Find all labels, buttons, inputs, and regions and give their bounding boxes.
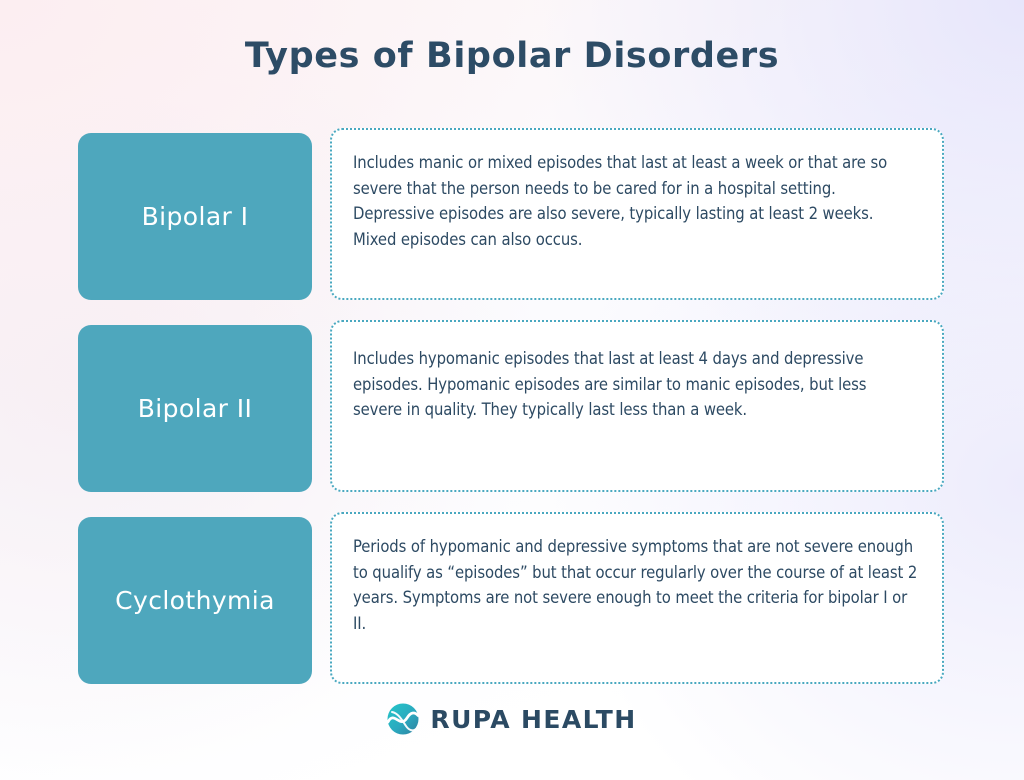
disorder-description-card: Periods of hypomanic and depressive symp… [330, 512, 944, 684]
disorder-label-box: Bipolar II [78, 325, 312, 492]
footer-brand: RUPA HEALTH [0, 703, 1024, 735]
infographic-page: Types of Bipolar Disorders Bipolar I Inc… [0, 0, 1024, 780]
disorder-description-card: Includes hypomanic episodes that last at… [330, 320, 944, 492]
disorder-label-box: Cyclothymia [78, 517, 312, 684]
disorder-label-text: Bipolar II [138, 394, 253, 423]
disorder-description-text: Includes manic or mixed episodes that la… [353, 150, 920, 252]
page-title: Types of Bipolar Disorders [0, 36, 1024, 76]
rupa-health-wave-logo-icon [387, 703, 419, 735]
disorder-description-text: Includes hypomanic episodes that last at… [353, 346, 920, 423]
disorder-label-text: Bipolar I [142, 202, 249, 231]
disorder-label-text: Cyclothymia [115, 586, 275, 615]
brand-name: RUPA HEALTH [430, 705, 636, 734]
disorder-label-box: Bipolar I [78, 133, 312, 300]
disorder-description-card: Includes manic or mixed episodes that la… [330, 128, 944, 300]
disorder-description-text: Periods of hypomanic and depressive symp… [353, 534, 920, 636]
